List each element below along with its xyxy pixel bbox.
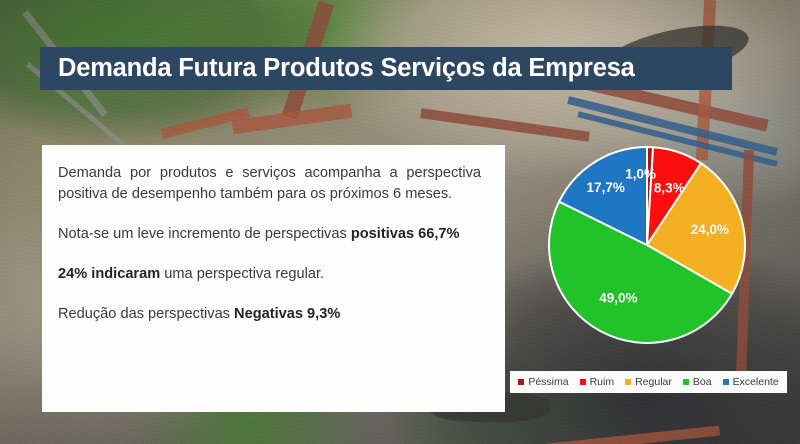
title-banner: Demanda Futura Produtos Serviços da Empr… [40, 47, 732, 90]
chart-legend: PéssimaRuimRegularBoaExcelente [510, 371, 787, 393]
summary-paragraph-3-highlight: 24% indicaram [58, 266, 160, 282]
summary-paragraph-3: 24% indicaram uma perspectiva regular. [58, 264, 481, 285]
legend-label-boa: Boa [693, 376, 712, 388]
legend-label-excelente: Excelente [733, 376, 779, 388]
legend-swatch-icon-pessima [518, 379, 524, 385]
legend-label-regular: Regular [635, 376, 672, 388]
pie-label-boa: 49,0% [599, 291, 637, 306]
legend-label-pessima: Péssima [528, 376, 568, 388]
summary-paragraph-2: Nota-se um leve incremento de perspectiv… [58, 224, 481, 245]
summary-paragraph-4-prefix: Redução das perspectivas [58, 306, 234, 322]
pie-label-ruim: 8,3% [654, 181, 685, 196]
legend-swatch-icon-ruim [580, 379, 586, 385]
slide-canvas: Demanda Futura Produtos Serviços da Empr… [0, 0, 800, 444]
legend-swatch-icon-boa [683, 379, 689, 385]
legend-swatch-icon-regular [625, 379, 631, 385]
legend-item-excelente[interactable]: Excelente [723, 376, 779, 388]
summary-paragraph-1: Demanda por produtos e serviços acompanh… [58, 163, 481, 205]
pie-label-regular: 24,0% [691, 222, 729, 237]
pie-chart-svg: 1,0%8,3%24,0%49,0%17,7% [547, 145, 747, 345]
legend-label-ruim: Ruim [590, 376, 615, 388]
legend-item-ruim[interactable]: Ruim [580, 376, 615, 388]
pie-chart: 1,0%8,3%24,0%49,0%17,7% [547, 145, 747, 345]
legend-swatch-icon-excelente [723, 379, 729, 385]
legend-item-pessima[interactable]: Péssima [518, 376, 568, 388]
legend-item-boa[interactable]: Boa [683, 376, 712, 388]
summary-paragraph-2-prefix: Nota-se um leve incremento de perspectiv… [58, 226, 351, 242]
pie-label-excelente: 17,7% [587, 180, 625, 195]
summary-paragraph-4: Redução das perspectivas Negativas 9,3% [58, 304, 481, 325]
legend-item-regular[interactable]: Regular [625, 376, 672, 388]
summary-paragraph-2-highlight: positivas 66,7% [351, 226, 460, 242]
summary-paragraph-3-suffix: uma perspectiva regular. [160, 266, 324, 282]
summary-paragraph-1-text: Demanda por produtos e serviços acompanh… [58, 165, 481, 202]
summary-paragraph-4-highlight: Negativas 9,3% [234, 306, 340, 322]
page-title: Demanda Futura Produtos Serviços da Empr… [40, 54, 635, 83]
summary-text-card: Demanda por produtos e serviços acompanh… [42, 145, 505, 412]
pie-label-pessima: 1,0% [625, 167, 656, 182]
